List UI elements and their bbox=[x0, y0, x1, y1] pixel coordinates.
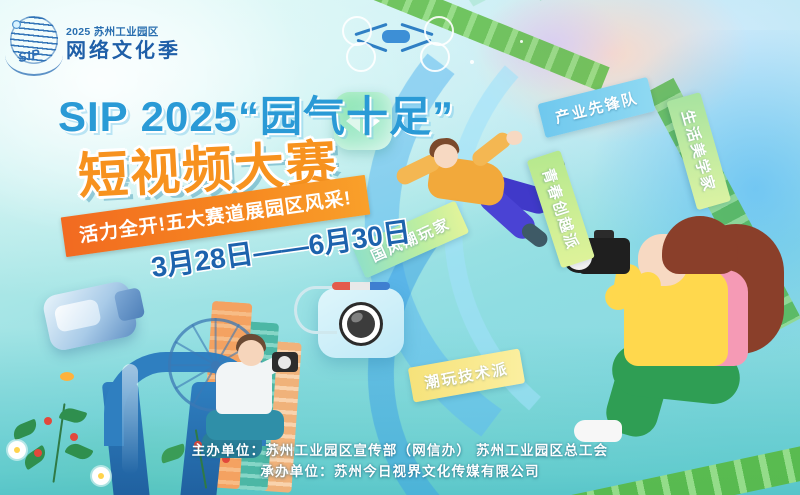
logo-title: 网络文化季 bbox=[66, 41, 181, 61]
credits-block: 主办单位：苏州工业园区宣传部（网信办） 苏州工业园区总工会 承办单位：苏州今日视… bbox=[0, 441, 800, 483]
headline-block: SIP 2025“园气十足” 短视频大赛 bbox=[58, 96, 454, 192]
globe-sip-logo-icon: SIP bbox=[6, 12, 62, 76]
sparkle bbox=[470, 60, 474, 64]
camera-icon bbox=[318, 288, 404, 358]
sparkle-gold bbox=[60, 372, 74, 381]
seated-photographer-figure bbox=[560, 206, 790, 446]
headline-line-1: SIP 2025“园气十足” bbox=[58, 96, 454, 138]
logo-subtitle: 2025 苏州工业园区 bbox=[66, 27, 181, 38]
drone-icon bbox=[340, 18, 450, 70]
poster-canvas: SIP 2025 苏州工业园区 网络文化季 SIP 2025“园气十足” 短视频… bbox=[0, 0, 800, 495]
credits-line-1: 主办单位：苏州工业园区宣传部（网信办） 苏州工业园区总工会 bbox=[0, 441, 800, 462]
credits-line-2: 承办单位：苏州今日视界文化传媒有限公司 bbox=[0, 462, 800, 483]
sparkle bbox=[520, 40, 523, 43]
event-logo: SIP 2025 苏州工业园区 网络文化季 bbox=[6, 12, 181, 76]
